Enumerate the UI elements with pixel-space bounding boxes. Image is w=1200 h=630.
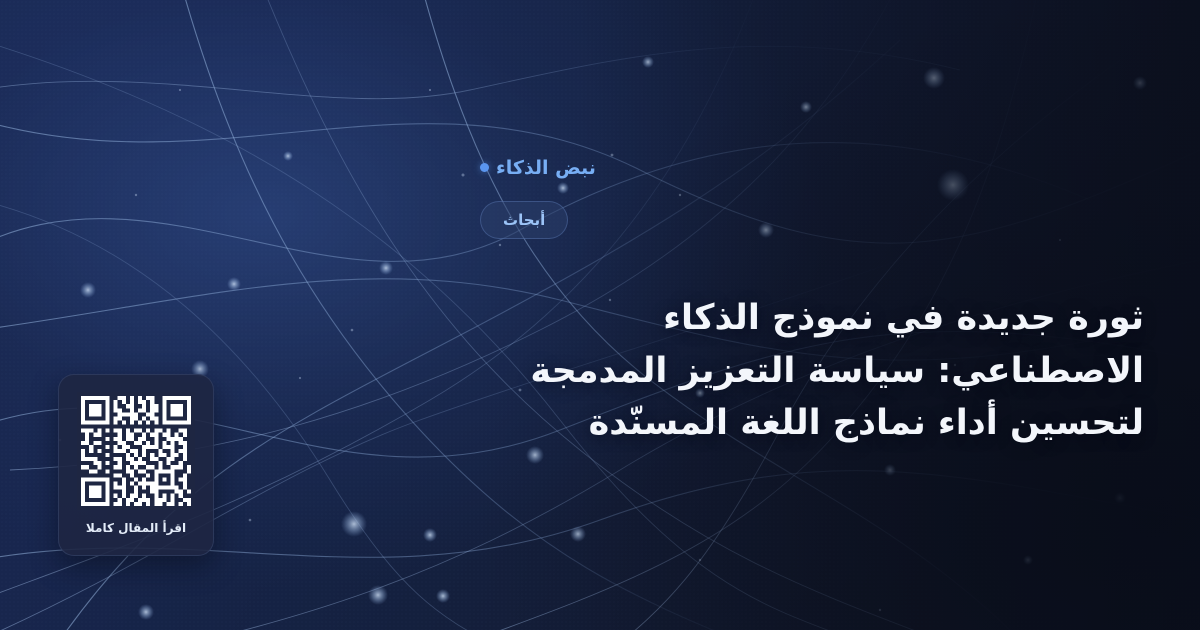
qr-code-icon (77, 392, 195, 510)
category-badge[interactable]: أبحاث (480, 201, 568, 239)
content-column: نبض الذكاء أبحاث ثورة جديدة في نموذج الذ… (480, 0, 1200, 630)
social-share-card: نبض الذكاء أبحاث ثورة جديدة في نموذج الذ… (0, 0, 1200, 630)
qr-caption: اقرأ المقال كاملا (86, 521, 186, 535)
brand-name: نبض الذكاء (496, 157, 596, 179)
brand: نبض الذكاء (480, 157, 596, 179)
brand-dot-icon (480, 163, 489, 172)
qr-card[interactable]: اقرأ المقال كاملا (58, 374, 214, 556)
page-title: ثورة جديدة في نموذج الذكاء الاصطناعي: سي… (480, 292, 1144, 450)
